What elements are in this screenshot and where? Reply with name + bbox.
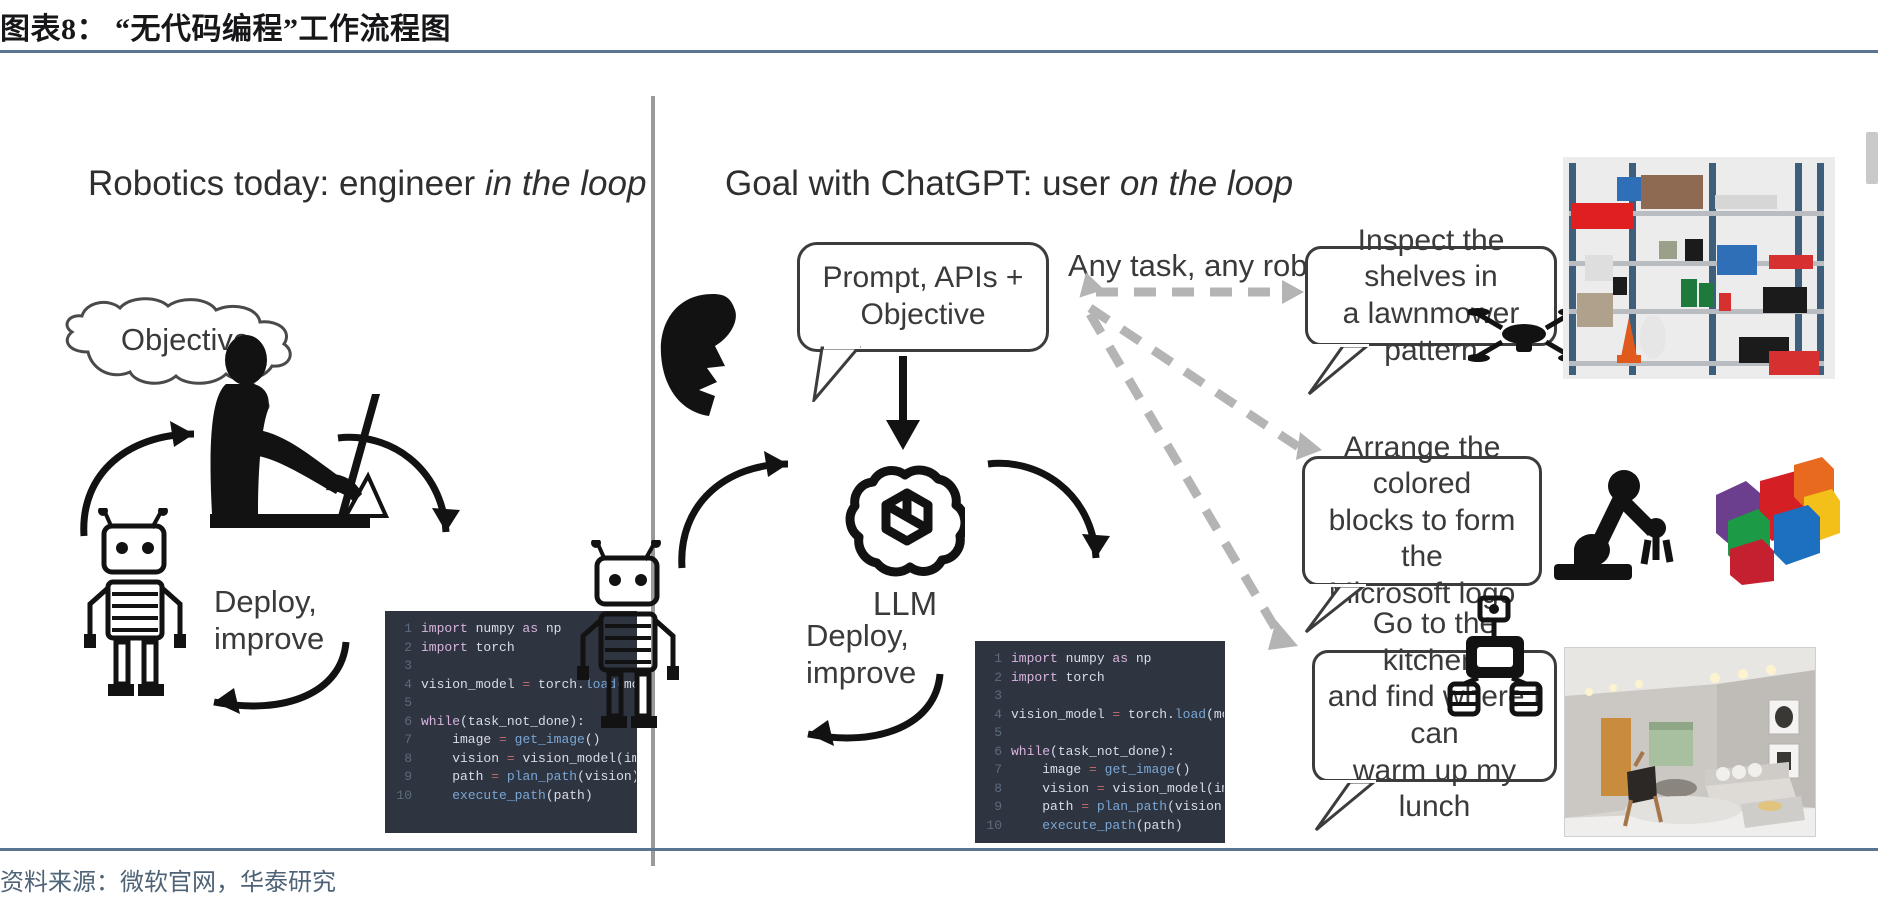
colored-blocks-photo <box>1700 451 1840 586</box>
robot-arm-silhouette <box>1552 456 1687 586</box>
prompt-bubble: Prompt, APIs + Objective <box>797 242 1049 352</box>
panel-divider <box>651 96 655 866</box>
warehouse-shelves-illustration <box>1563 157 1835 379</box>
code-line: 7 image = get_image() <box>984 761 1214 780</box>
arrow-robot-to-llm-right <box>672 448 812 578</box>
arrow-objective-to-engineer <box>74 416 224 546</box>
arrow-prompt-to-llm <box>880 356 926 452</box>
code-line: 2import torch <box>984 669 1214 688</box>
deploy-improve-label-right: Deploy, improve <box>806 618 916 691</box>
code-line: 9 path = plan_path(vision) <box>394 768 626 787</box>
code-line: 3 <box>984 687 1214 706</box>
code-line: 8 vision = vision_model(image) <box>984 780 1214 799</box>
left-heading-main: Robotics today: engineer <box>88 164 485 203</box>
deploy-improve-label-left: Deploy, improve <box>214 584 324 657</box>
warehouse-shelves-photo <box>1563 157 1835 379</box>
task-bubble-kitchen-tail-icon <box>1310 780 1380 832</box>
task-bubble-arrange-blocks: Arrange the colored blocks to form the M… <box>1302 456 1542 586</box>
code-line: 10 execute_path(path) <box>394 787 626 806</box>
openai-logo-icon <box>845 461 965 581</box>
code-line: 9 path = plan_path(vision) <box>984 798 1214 817</box>
prompt-bubble-text: Prompt, APIs + Objective <box>823 260 1024 333</box>
title-divider <box>0 50 1878 53</box>
right-heading-main: Goal with ChatGPT: user <box>725 164 1120 203</box>
code-line: 5 <box>984 724 1214 743</box>
right-panel-heading: Goal with ChatGPT: user on the loop <box>725 164 1293 204</box>
source-note: 资料来源：微软官网，华泰研究 <box>0 862 336 897</box>
page-title: 图表8： “无代码编程”工作流程图 <box>0 4 1878 48</box>
right-heading-italic: on the loop <box>1120 164 1293 203</box>
left-panel-heading: Robotics today: engineer in the loop <box>88 164 646 204</box>
code-line: 6while(task_not_done): <box>984 743 1214 762</box>
living-room-illustration <box>1565 648 1815 836</box>
code-line: 1import numpy as np <box>984 650 1214 669</box>
code-block-right: 1import numpy as np2import torch34vision… <box>976 642 1224 842</box>
mobile-robot-silhouette <box>1446 594 1546 722</box>
code-line: 8 vision = vision_model(image) <box>394 750 626 769</box>
arrow-engineer-to-code <box>330 426 460 566</box>
footer-divider <box>0 848 1878 851</box>
living-room-photo <box>1564 647 1816 837</box>
code-line: 10 execute_path(path) <box>984 817 1214 836</box>
prompt-bubble-tail-icon <box>810 346 870 402</box>
llm-group: LLM <box>845 461 965 626</box>
left-heading-italic: in the loop <box>485 164 647 203</box>
code-line: 4vision_model = torch.load(model) <box>984 706 1214 725</box>
arrow-llm-to-code-right <box>980 452 1110 592</box>
user-head-silhouette <box>655 292 771 420</box>
figure-canvas: Robotics today: engineer in the loop Goa… <box>0 56 1878 846</box>
scrollbar-thumb[interactable] <box>1866 132 1878 184</box>
task-bubble-inspect-tail-icon <box>1303 344 1373 396</box>
